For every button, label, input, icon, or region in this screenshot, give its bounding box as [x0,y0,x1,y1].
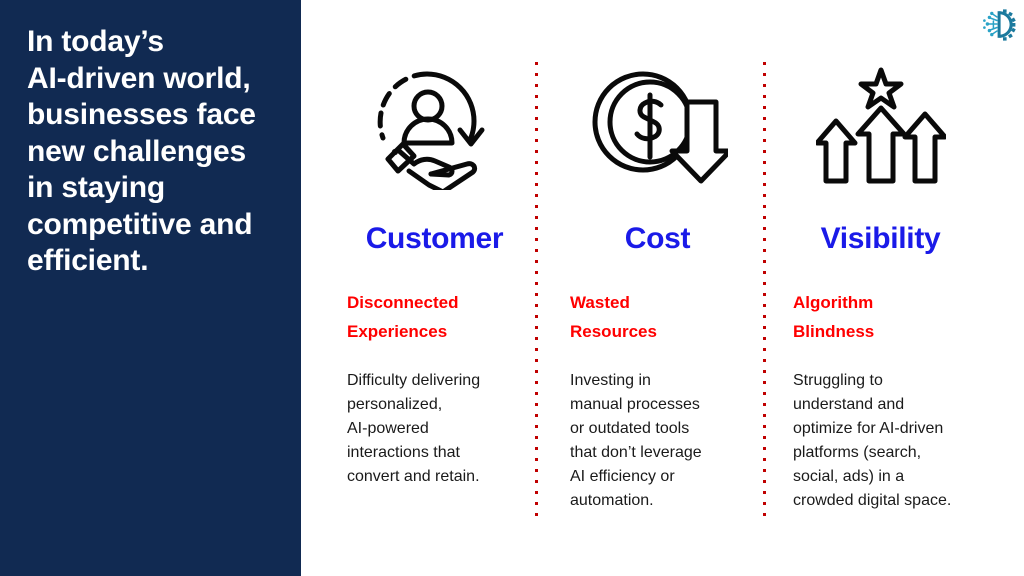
column-cost: Cost Wasted Resources Investing in manua… [570,0,745,576]
column-divider-2 [763,62,766,520]
column-title-customer: Customer [347,222,522,256]
headline-text: In today’s AI-driven world, businesses f… [27,24,279,280]
visibility-growth-arrows-icon [793,62,968,192]
column-body-customer: Difficulty delivering personalized, AI-p… [347,369,527,489]
column-title-visibility: Visibility [793,222,968,256]
column-subtitle-visibility: Algorithm Blindness [793,289,978,346]
column-subtitle-customer: Disconnected Experiences [347,289,522,346]
column-visibility: Visibility Algorithm Blindness Strugglin… [793,0,993,576]
left-panel: In today’s AI-driven world, businesses f… [0,0,301,576]
columns-area: Customer Disconnected Experiences Diffic… [301,0,1024,576]
column-subtitle-cost: Wasted Resources [570,289,745,346]
column-customer: Customer Disconnected Experiences Diffic… [347,0,522,576]
column-body-visibility: Struggling to understand and optimize fo… [793,369,998,513]
slide-canvas: In today’s AI-driven world, businesses f… [0,0,1024,576]
column-body-cost: Investing in manual processes or outdate… [570,369,750,513]
column-title-cost: Cost [570,222,745,256]
customer-hand-icon [347,62,522,192]
column-divider-1 [535,62,538,520]
cost-down-arrow-icon [570,62,745,192]
